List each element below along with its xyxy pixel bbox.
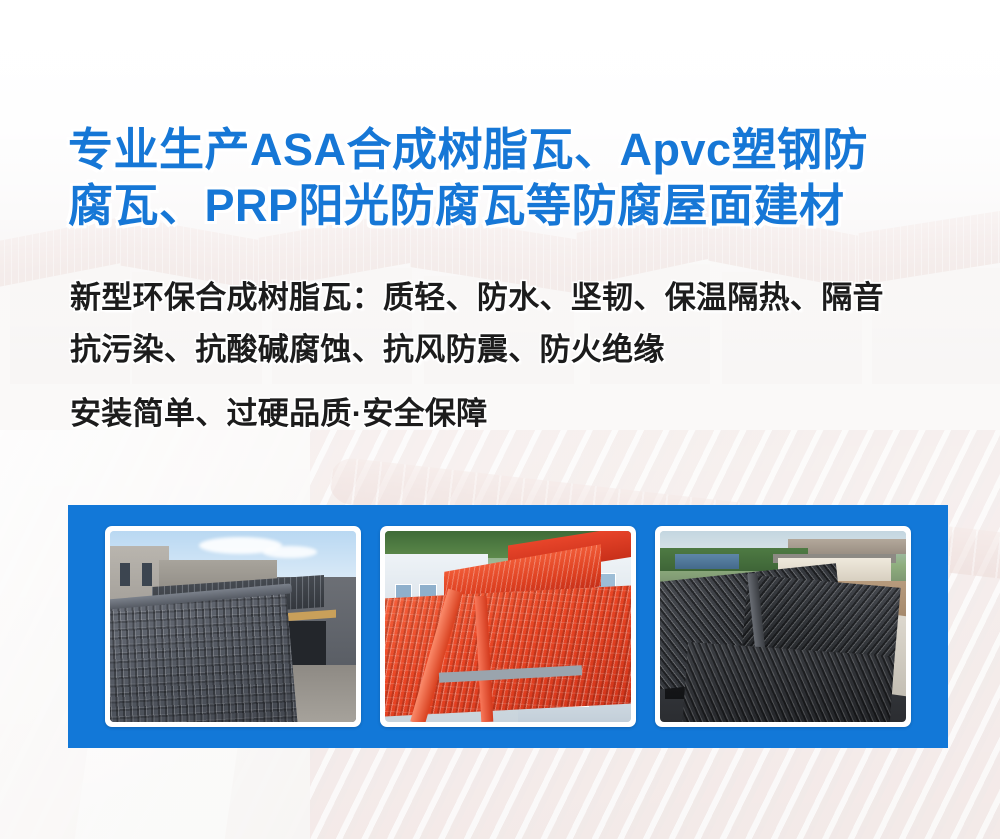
product-banner-poster: 专业生产ASA合成树脂瓦、Apvc塑钢防 腐瓦、PRP阳光防腐瓦等防腐屋面建材 … xyxy=(0,0,1000,839)
headline-line-2: 腐瓦、PRP阳光防腐瓦等防腐屋面建材 xyxy=(68,178,948,234)
red-resin-tile-roof-houses-image xyxy=(385,531,631,722)
black-resin-tile-roof-village-image xyxy=(660,531,906,722)
grey-resin-tile-roof-courtyard-image xyxy=(110,531,356,722)
gallery-photo-3[interactable] xyxy=(655,526,911,727)
poster-content: 专业生产ASA合成树脂瓦、Apvc塑钢防 腐瓦、PRP阳光防腐瓦等防腐屋面建材 … xyxy=(0,0,1000,839)
product-photo-gallery xyxy=(68,505,948,748)
poster-headline: 专业生产ASA合成树脂瓦、Apvc塑钢防 腐瓦、PRP阳光防腐瓦等防腐屋面建材 xyxy=(68,122,948,234)
headline-line-1: 专业生产ASA合成树脂瓦、Apvc塑钢防 xyxy=(68,122,948,178)
subheadline-line-3: 安装简单、过硬品质·安全保障 xyxy=(70,388,970,440)
subheadline-line-2: 抗污染、抗酸碱腐蚀、抗风防震、防火绝缘 xyxy=(70,324,970,376)
gallery-photo-1[interactable] xyxy=(105,526,361,727)
subheadline-line-1: 新型环保合成树脂瓦：质轻、防水、坚韧、保温隔热、隔音 xyxy=(70,272,970,324)
poster-subheadline: 新型环保合成树脂瓦：质轻、防水、坚韧、保温隔热、隔音 抗污染、抗酸碱腐蚀、抗风防… xyxy=(70,272,970,440)
gallery-photo-2[interactable] xyxy=(380,526,636,727)
